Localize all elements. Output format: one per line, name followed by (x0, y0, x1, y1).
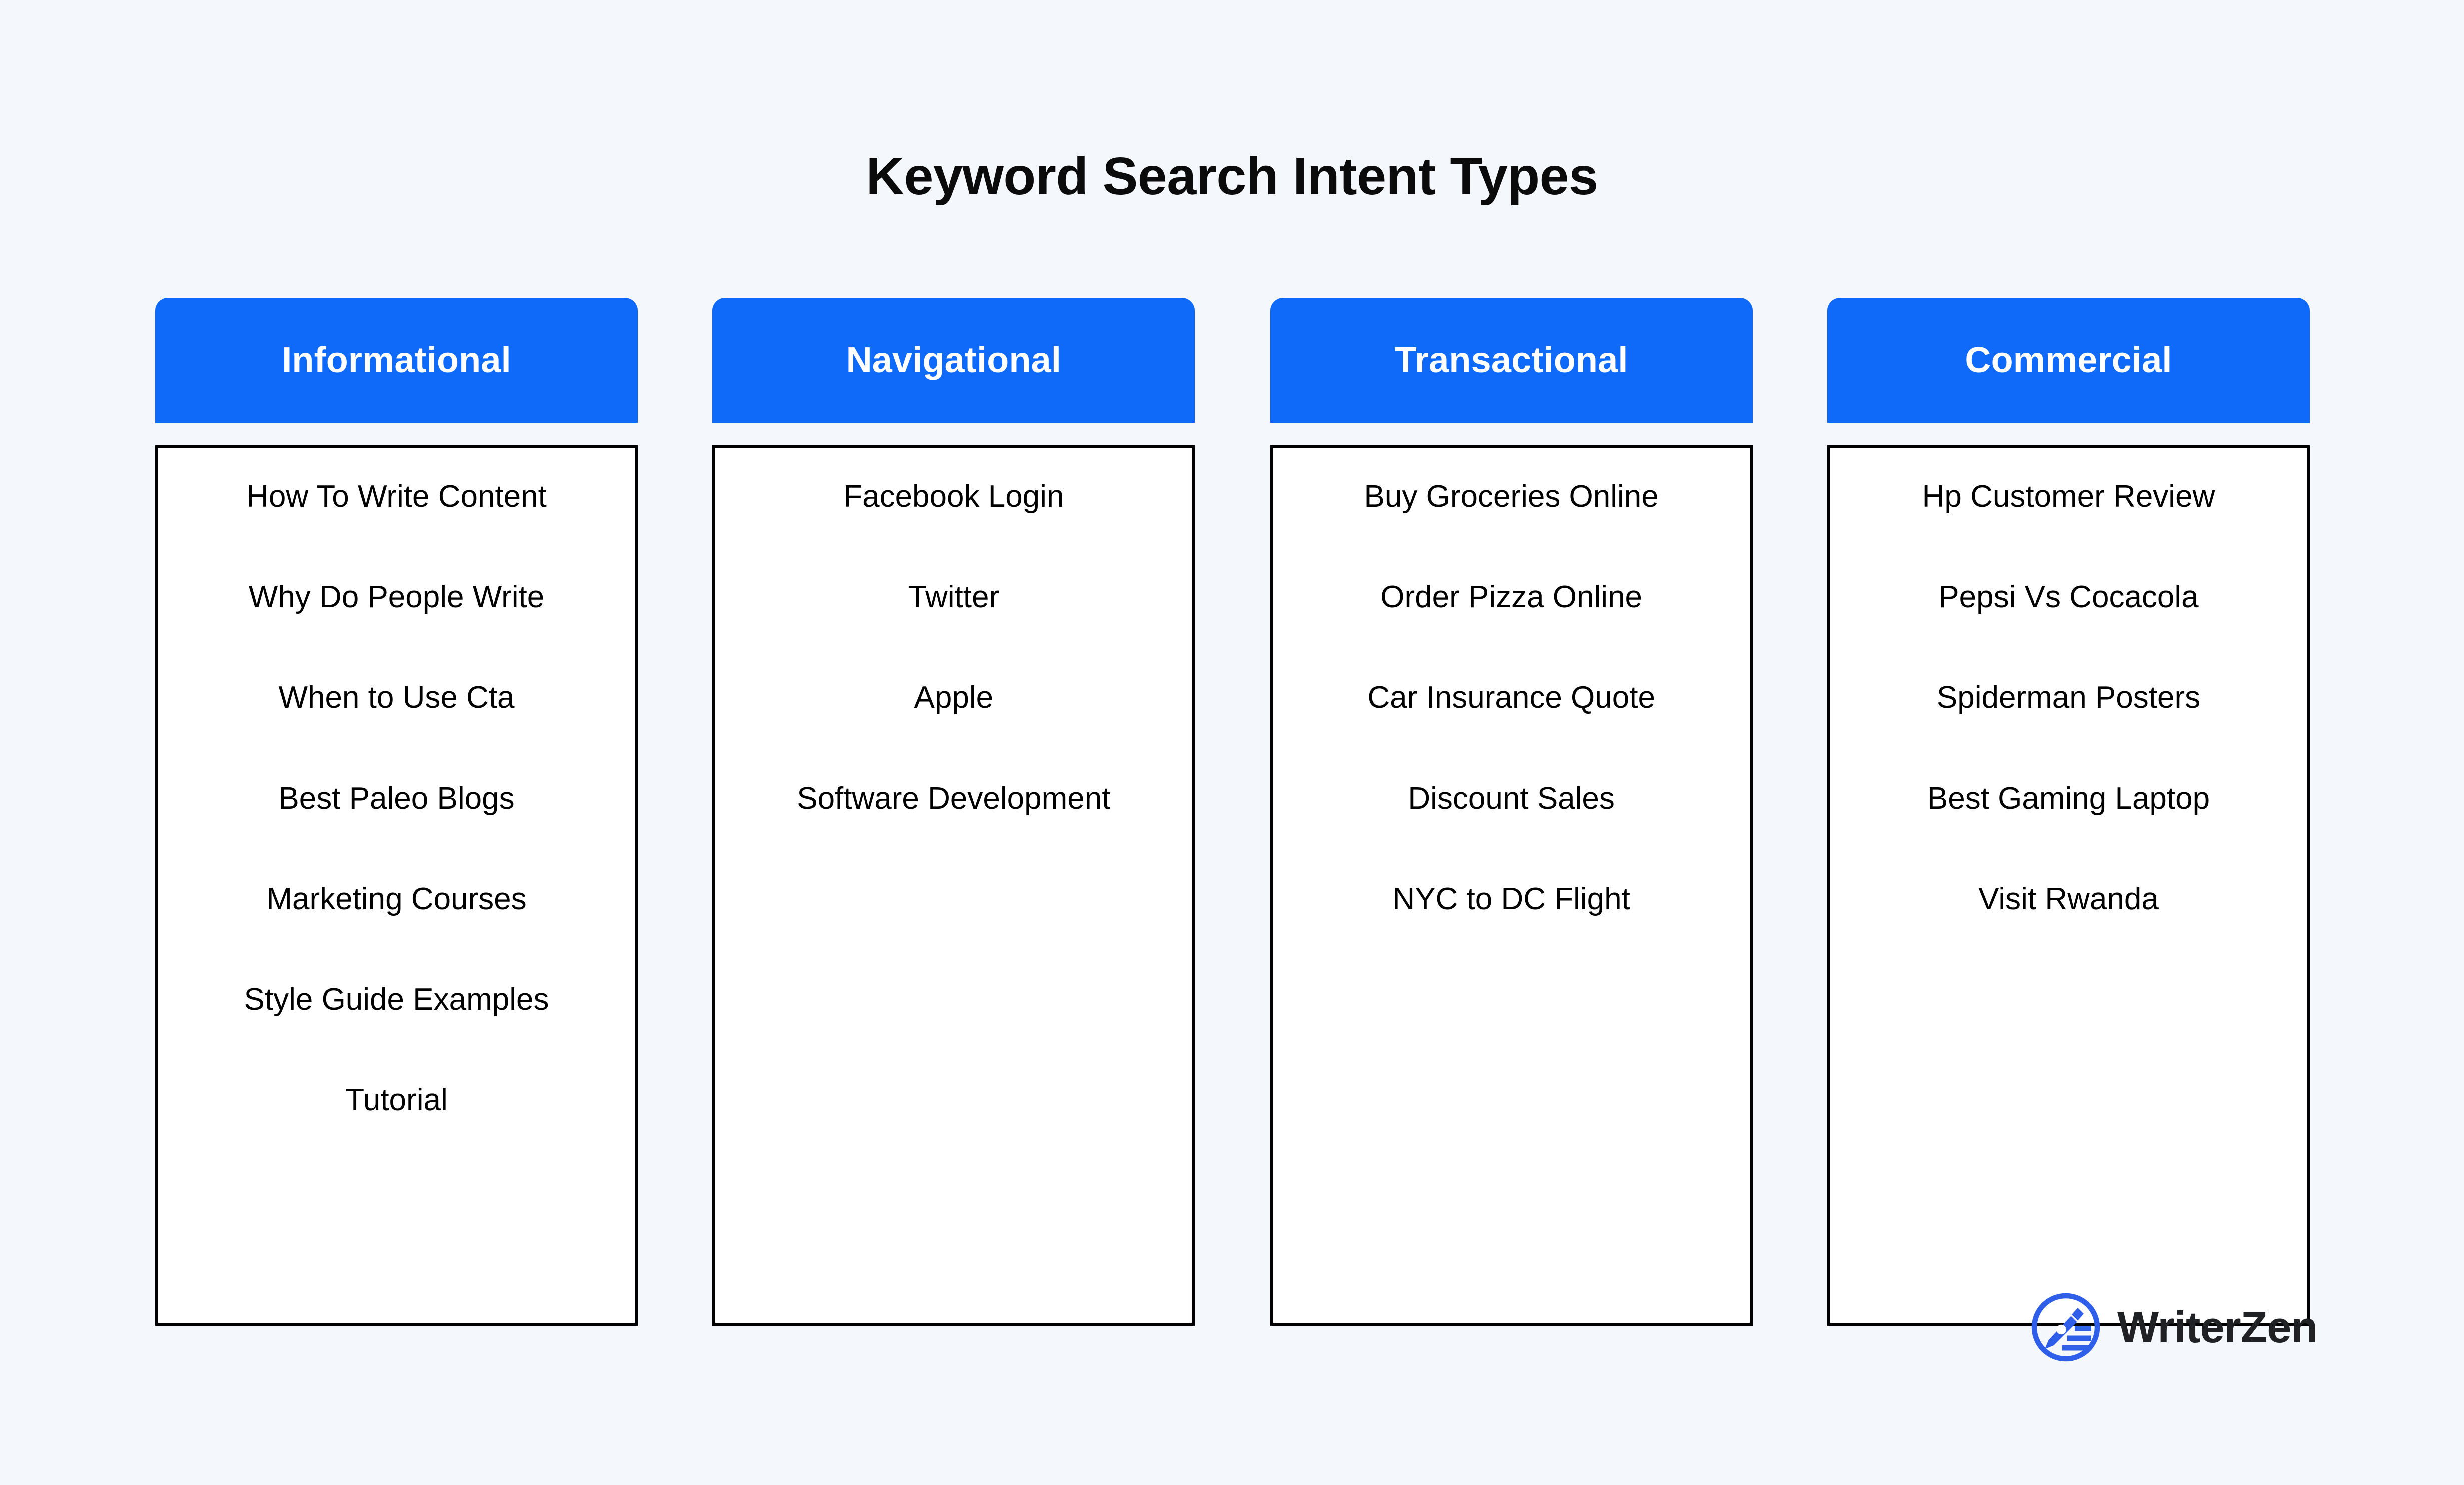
keyword-item: Best Paleo Blogs (158, 783, 635, 814)
keyword-item: Style Guide Examples (158, 984, 635, 1015)
keyword-item: How To Write Content (158, 481, 635, 512)
intent-columns: InformationalHow To Write ContentWhy Do … (155, 298, 2310, 1326)
writerzen-logo: WriterZen (2028, 1290, 2317, 1365)
keyword-item: When to Use Cta (158, 682, 635, 713)
column-header[interactable]: Transactional (1270, 298, 1753, 423)
column-header[interactable]: Navigational (712, 298, 1195, 423)
column-header[interactable]: Commercial (1827, 298, 2310, 423)
column-body: Buy Groceries OnlineOrder Pizza OnlineCa… (1270, 445, 1753, 1326)
column-header-label: Commercial (1965, 340, 2172, 381)
writerzen-pen-circle-icon (2028, 1290, 2103, 1365)
keyword-item: Car Insurance Quote (1273, 682, 1750, 713)
column-body: Hp Customer ReviewPepsi Vs CocacolaSpide… (1827, 445, 2310, 1326)
keyword-item: Software Development (715, 783, 1192, 814)
keyword-item: Buy Groceries Online (1273, 481, 1750, 512)
column-header[interactable]: Informational (155, 298, 638, 423)
column-body: How To Write ContentWhy Do People WriteW… (155, 445, 638, 1326)
keyword-item: Order Pizza Online (1273, 582, 1750, 613)
intent-column: NavigationalFacebook LoginTwitterAppleSo… (712, 298, 1195, 1326)
keyword-item: Why Do People Write (158, 582, 635, 613)
keyword-item: Tutorial (158, 1085, 635, 1116)
keyword-item: Twitter (715, 582, 1192, 613)
keyword-item: Best Gaming Laptop (1830, 783, 2307, 814)
keyword-item: Pepsi Vs Cocacola (1830, 582, 2307, 613)
keyword-item: Spiderman Posters (1830, 682, 2307, 713)
keyword-item: Marketing Courses (158, 884, 635, 915)
column-body: Facebook LoginTwitterAppleSoftware Devel… (712, 445, 1195, 1326)
keyword-item: Facebook Login (715, 481, 1192, 512)
keyword-item: Hp Customer Review (1830, 481, 2307, 512)
brand-name: WriterZen (2117, 1305, 2317, 1349)
intent-column: TransactionalBuy Groceries OnlineOrder P… (1270, 298, 1753, 1326)
intent-column: InformationalHow To Write ContentWhy Do … (155, 298, 638, 1326)
keyword-item: Visit Rwanda (1830, 884, 2307, 915)
page-title: Keyword Search Intent Types (0, 147, 2464, 206)
keyword-item: NYC to DC Flight (1273, 884, 1750, 915)
keyword-item: Apple (715, 682, 1192, 713)
column-header-label: Transactional (1395, 340, 1628, 381)
column-header-label: Informational (282, 340, 511, 381)
column-header-label: Navigational (846, 340, 1062, 381)
keyword-item: Discount Sales (1273, 783, 1750, 814)
intent-column: CommercialHp Customer ReviewPepsi Vs Coc… (1827, 298, 2310, 1326)
